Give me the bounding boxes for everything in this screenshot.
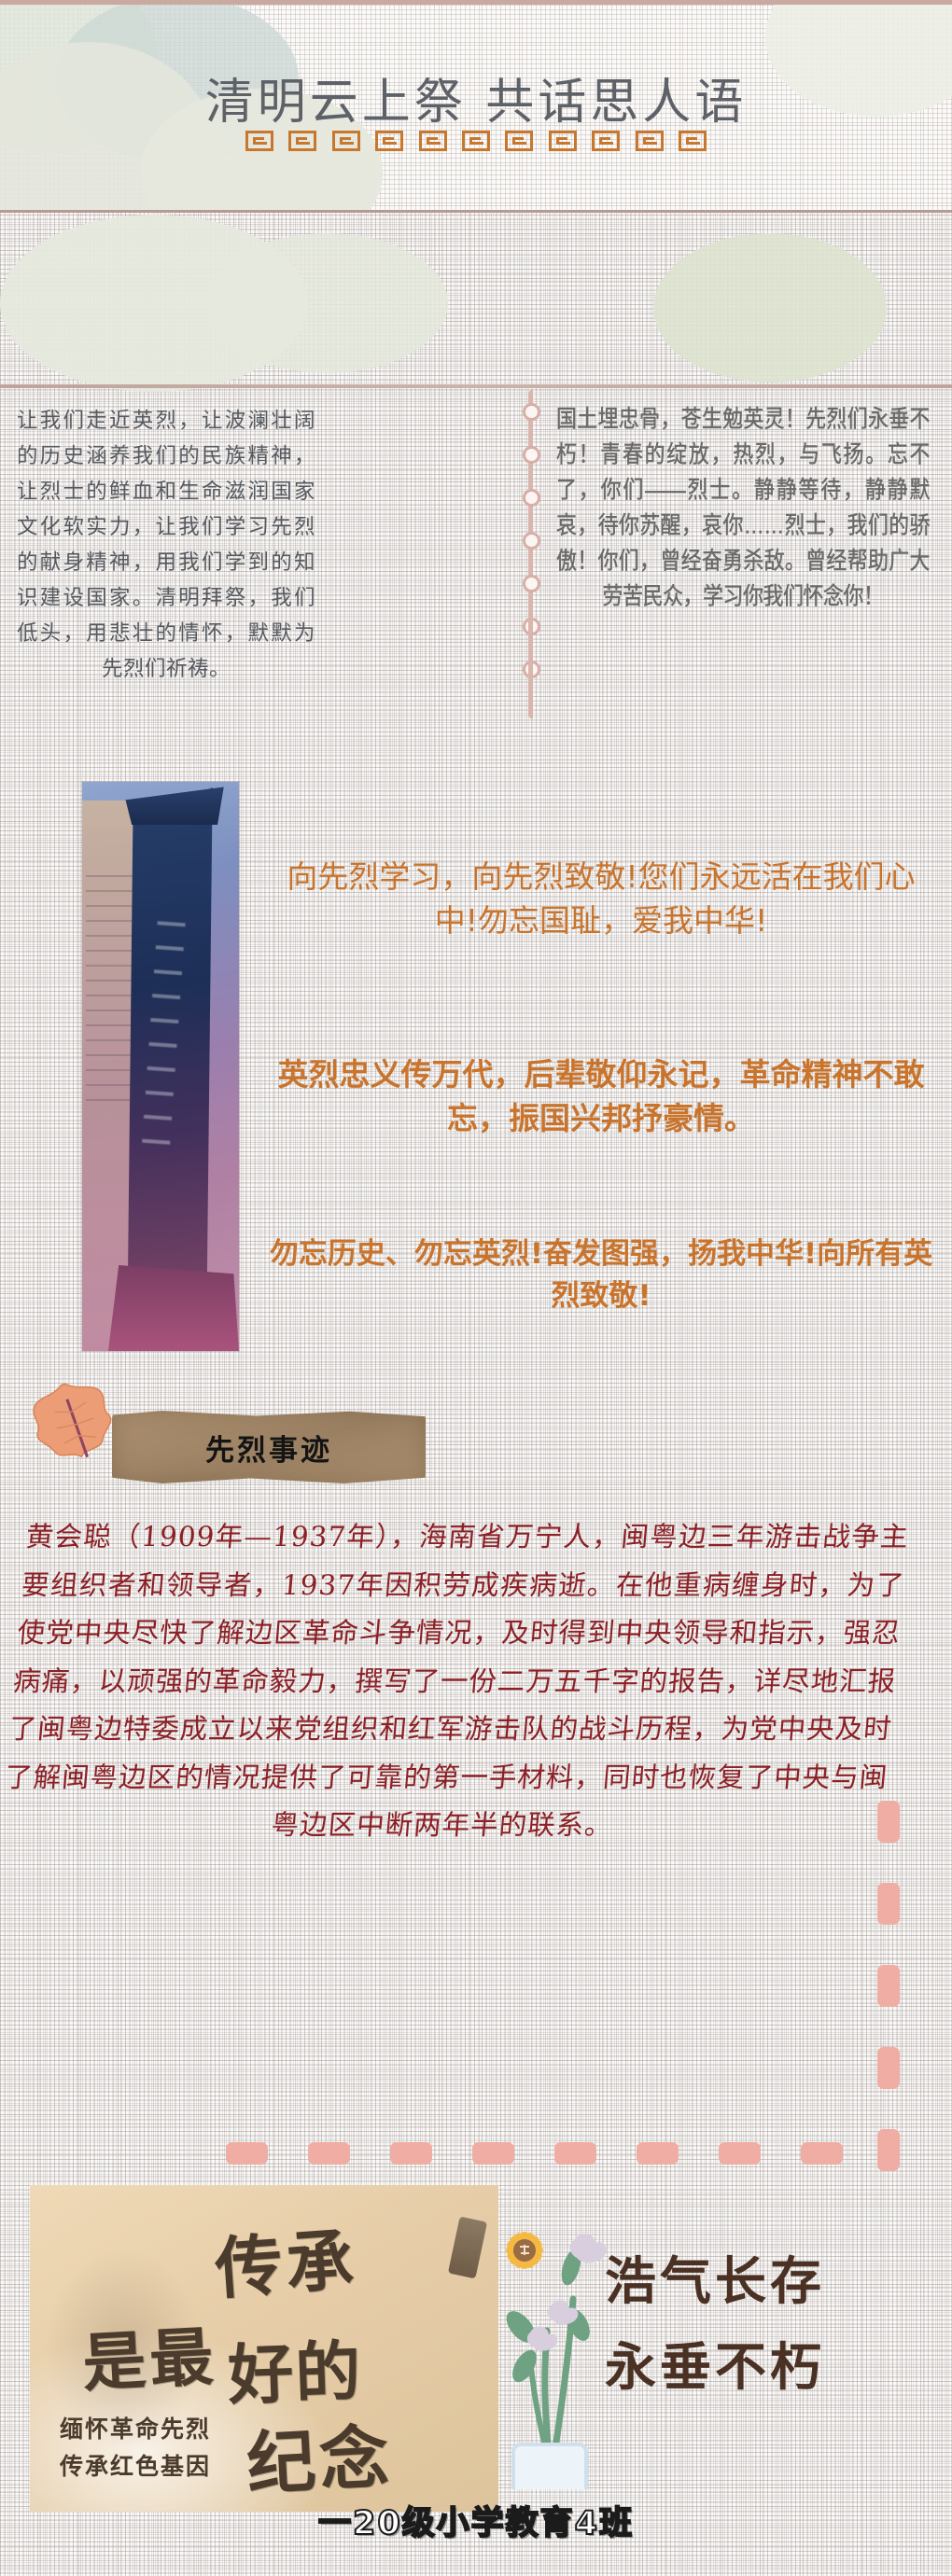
decor-dash	[226, 2142, 268, 2165]
headline-line-2: 永垂不朽	[605, 2325, 825, 2400]
greek-key-icon	[288, 131, 316, 151]
decor-dash	[308, 2142, 350, 2165]
decor-dash	[877, 2047, 900, 2089]
decor-dash	[472, 2142, 514, 2165]
banner-subtitle-line1: 缅怀革命先烈	[60, 2411, 211, 2448]
vase-icon	[513, 2444, 586, 2489]
spine-ring-icon	[523, 532, 540, 550]
decor-dash	[554, 2142, 596, 2165]
spine-ring-icon	[523, 489, 540, 507]
story-paragraph: 黄会聪（1909年—1937年），海南省万宁人，闽粤边三年游击战争主要组织者和领…	[0, 1513, 911, 1850]
spine-ring-icon	[523, 446, 540, 464]
decor-dash	[637, 2142, 679, 2165]
decor-dash	[877, 1965, 900, 2007]
notebook-spine-lower	[528, 606, 546, 718]
sunflower-icon	[504, 2230, 545, 2271]
greek-key-icon	[419, 131, 447, 151]
header-bottom-rule	[0, 384, 952, 388]
slogan-two: 英烈忠义传万代，后辈敬仰永记，革命精神不敢忘，振国兴邦抒豪情。	[267, 1052, 935, 1140]
intro-paragraph-left: 让我们走近英烈，让波澜壮阔的历史涵养我们的民族精神，让烈士的鲜血和生命滋润国家文…	[17, 403, 315, 687]
footer-class-label: 一20级小学教育4班	[0, 2497, 952, 2544]
poster-page: 清明云上祭 共话思人语 让我们走近英烈，让波澜壮阔的历史涵养我们的民族精神，让烈…	[0, 0, 952, 2576]
banner-subtitle-line2: 传承红色基因	[60, 2448, 211, 2485]
greek-key-icon	[332, 131, 360, 151]
greek-key-icon	[549, 131, 577, 151]
greek-key-border	[0, 131, 952, 151]
banner-calligraphy-line4: 纪念	[244, 2402, 394, 2509]
calligraphy-banner: 传承 是最 好的 纪念 缅怀革命先烈 传承红色基因	[30, 2185, 498, 2512]
flower-vase-illustration	[493, 2209, 623, 2489]
decor-blob-7	[653, 233, 887, 383]
banner-subtitle: 缅怀革命先烈 传承红色基因	[60, 2411, 211, 2485]
greek-key-icon	[245, 131, 273, 151]
decor-dash	[801, 2142, 843, 2165]
decor-dash	[877, 2129, 900, 2171]
slogan-one: 向先烈学习，向先烈致敬!您们永远活在我们心中!勿忘国耻，爱我中华!	[267, 855, 935, 942]
monument-photo	[82, 782, 239, 1351]
section-tag-label: 先烈事迹	[112, 1411, 426, 1483]
headline-line-1: 浩气长存	[605, 2239, 825, 2314]
decor-dash	[877, 1801, 900, 1843]
greek-key-icon	[592, 131, 620, 151]
banner-calligraphy-line2: 是最	[80, 2304, 219, 2403]
banner-calligraphy-line1: 传承	[212, 2205, 360, 2312]
decor-dash	[719, 2142, 761, 2165]
intro-paragraph-right: 国土埋忠骨，苍生勉英灵！先烈们永垂不朽！青春的绽放，热烈，与飞扬。忘不了，你们—…	[556, 401, 930, 614]
greek-key-icon	[375, 131, 403, 151]
greek-key-icon	[679, 131, 707, 151]
slogan-three: 勿忘历史、勿忘英烈!奋发图强，扬我中华!向所有英烈致敬!	[267, 1233, 935, 1317]
decor-dash	[390, 2142, 432, 2165]
poster-header: 清明云上祭 共话思人语	[0, 0, 952, 213]
photo-monument-base	[108, 1265, 239, 1351]
spine-ring-icon	[523, 575, 540, 592]
page-title: 清明云上祭 共话思人语	[0, 63, 952, 132]
greek-key-icon	[636, 131, 664, 151]
spine-ring-icon	[523, 403, 540, 421]
greek-key-icon	[462, 131, 490, 151]
decor-blob-6	[0, 215, 308, 392]
photo-monument-cap	[121, 782, 226, 825]
greek-key-icon	[505, 131, 533, 151]
decor-dash	[877, 1883, 900, 1925]
torch-icon	[448, 2217, 487, 2279]
